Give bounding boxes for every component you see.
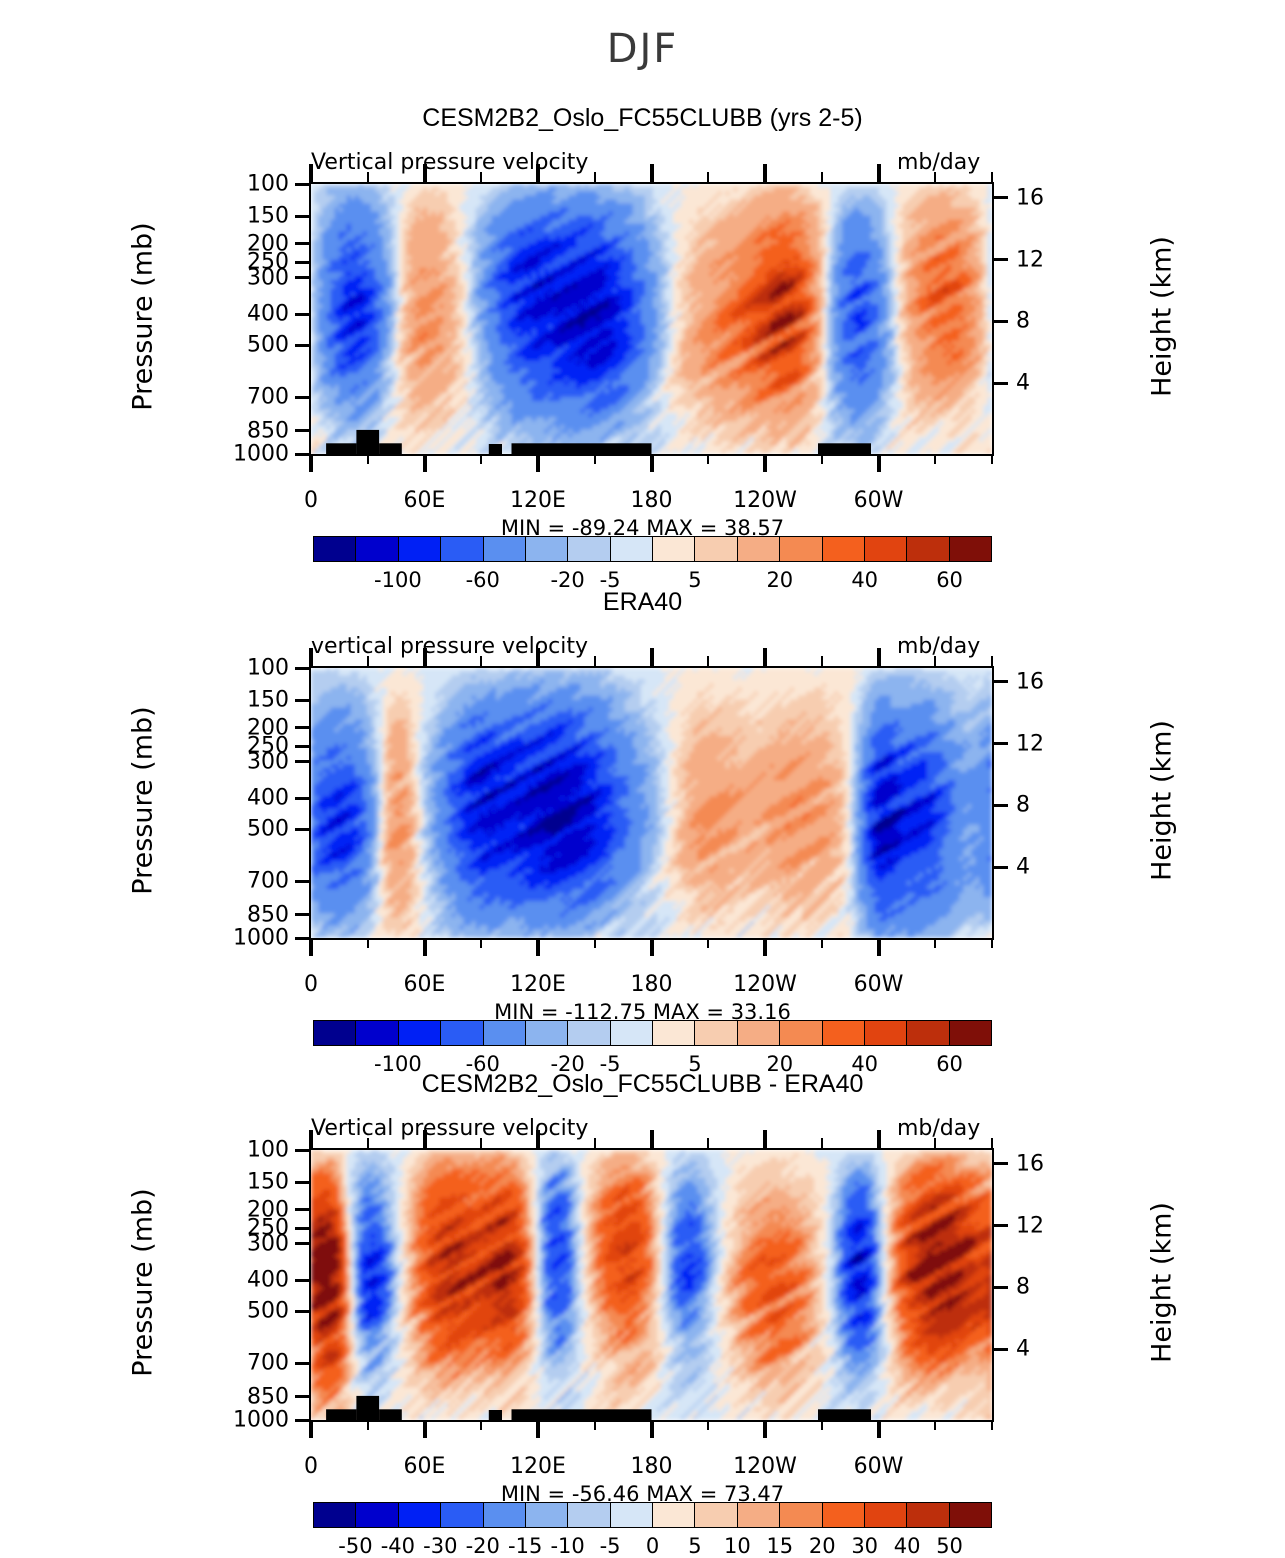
pressure-tick-label: 150: [183, 204, 289, 229]
pressure-tick-label: 150: [183, 1170, 289, 1195]
lon-tick-label: 60E: [404, 1454, 446, 1479]
lon-major-tick: [423, 454, 427, 472]
colorbar-segment: [441, 1021, 483, 1045]
lon-minor-tick: [991, 1420, 993, 1430]
colorbar-segment: [399, 1503, 441, 1527]
pressure-tick: [295, 242, 311, 245]
height-tick-label: 4: [1016, 1337, 1030, 1362]
lon-major-tick-top: [423, 648, 427, 666]
lon-major-tick: [650, 1420, 654, 1438]
lon-major-tick-top: [423, 1130, 427, 1148]
lon-major-tick-top: [536, 1130, 540, 1148]
lon-tick-label: 0: [304, 1454, 318, 1479]
lon-minor-tick-top: [707, 172, 709, 182]
pressure-axis-title: Pressure (mb): [128, 651, 159, 951]
lon-tick-label: 120E: [510, 972, 566, 997]
colorbar-segment: [907, 1021, 949, 1045]
colorbar-segment: [907, 537, 949, 561]
pressure-tick: [295, 1149, 311, 1152]
colorbar-tick-label: 50: [936, 1534, 963, 1558]
lon-major-tick: [309, 938, 313, 956]
colorbar-segment: [738, 1021, 780, 1045]
panel-obs-field-label: vertical pressure velocity: [311, 634, 588, 659]
pressure-tick: [295, 913, 311, 916]
pressure-tick: [295, 1279, 311, 1282]
pressure-tick-label: 100: [183, 1138, 289, 1163]
colorbar-tick-label: 15: [766, 1534, 793, 1558]
pressure-tick: [295, 745, 311, 748]
panel-diff-plot-area: [309, 1148, 994, 1422]
colorbar-segment: [950, 537, 991, 561]
pressure-tick: [295, 880, 311, 883]
lon-major-tick: [763, 938, 767, 956]
colorbar-segment: [653, 1021, 695, 1045]
colorbar-segment: [865, 537, 907, 561]
colorbar-segment: [399, 537, 441, 561]
panel-obs-contour-field: [311, 668, 992, 938]
pressure-tick-label: 500: [183, 333, 289, 358]
pressure-tick-label: 400: [183, 786, 289, 811]
colorbar-segment: [484, 1021, 526, 1045]
panel-obs-plot-area: [309, 666, 994, 940]
lon-minor-tick-top: [367, 1138, 369, 1148]
colorbar-tick-label: -10: [550, 1534, 584, 1558]
lon-minor-tick-top: [707, 656, 709, 666]
pressure-tick-label: 400: [183, 302, 289, 327]
lon-minor-tick-top: [934, 1138, 936, 1148]
pressure-tick: [295, 183, 311, 186]
pressure-tick-label: 850: [183, 1384, 289, 1409]
pressure-tick: [295, 1208, 311, 1211]
lon-minor-tick-top: [480, 656, 482, 666]
pressure-tick-label: 100: [183, 172, 289, 197]
colorbar-tick-label: 30: [851, 1534, 878, 1558]
pressure-tick: [295, 344, 311, 347]
colorbar-tick-label: -5: [600, 1534, 621, 1558]
height-tick: [992, 1286, 1008, 1289]
lon-major-tick-top: [763, 1130, 767, 1148]
colorbar-segment: [356, 537, 398, 561]
colorbar-segment: [526, 1021, 568, 1045]
height-tick-label: 16: [1016, 1151, 1044, 1176]
lon-major-tick: [650, 938, 654, 956]
panel-diff-field-label: Vertical pressure velocity: [311, 1116, 588, 1141]
colorbar-tick-label: 10: [724, 1534, 751, 1558]
lon-minor-tick: [594, 938, 596, 948]
colorbar-segment: [441, 1503, 483, 1527]
height-tick-label: 4: [1016, 855, 1030, 880]
pressure-tick: [295, 1242, 311, 1245]
lon-major-tick-top: [536, 164, 540, 182]
lon-major-tick: [877, 938, 881, 956]
colorbar-segment: [568, 537, 610, 561]
colorbar-tick-label: 5: [688, 1534, 701, 1558]
panel-diff-title: CESM2B2_Oslo_FC55CLUBB - ERA40: [0, 1070, 1285, 1099]
lon-major-tick-top: [877, 648, 881, 666]
lon-tick-label: 60E: [404, 488, 446, 513]
pressure-tick-label: 300: [183, 265, 289, 290]
pressure-tick-label: 300: [183, 1231, 289, 1256]
pressure-tick: [295, 760, 311, 763]
pressure-tick: [295, 1310, 311, 1313]
pressure-tick-label: 700: [183, 869, 289, 894]
lon-tick-label: 180: [631, 488, 673, 513]
lon-minor-tick-top: [594, 656, 596, 666]
pressure-tick: [295, 699, 311, 702]
pressure-tick-label: 1000: [183, 1408, 289, 1433]
pressure-tick: [295, 313, 311, 316]
colorbar-segment: [611, 1503, 653, 1527]
colorbar-tick-label: 0: [646, 1534, 659, 1558]
pressure-tick-label: 500: [183, 817, 289, 842]
lon-minor-tick: [480, 454, 482, 464]
colorbar-tick-label: 40: [894, 1534, 921, 1558]
colorbar-segment: [484, 537, 526, 561]
colorbar-segment: [823, 537, 865, 561]
lon-tick-label: 0: [304, 972, 318, 997]
lon-major-tick: [309, 1420, 313, 1438]
lon-minor-tick-top: [934, 172, 936, 182]
pressure-tick-label: 850: [183, 902, 289, 927]
colorbar-segment: [950, 1021, 991, 1045]
lon-tick-label: 60E: [404, 972, 446, 997]
pressure-tick-label: 150: [183, 688, 289, 713]
lon-minor-tick: [821, 1420, 823, 1430]
omega-bar-0[interactable]: [313, 536, 992, 562]
colorbar-segment: [611, 1021, 653, 1045]
lon-tick-label: 60W: [854, 1454, 904, 1479]
colorbar-segment: [568, 1503, 610, 1527]
lon-major-tick: [423, 938, 427, 956]
panel-diff-topography-mask: [311, 1150, 992, 1420]
colorbar-segment: [314, 1021, 356, 1045]
pressure-tick: [295, 1362, 311, 1365]
lon-major-tick-top: [650, 648, 654, 666]
colorbar-segment: [441, 537, 483, 561]
height-tick: [992, 258, 1008, 261]
lon-minor-tick: [594, 454, 596, 464]
lon-major-tick-top: [650, 164, 654, 182]
lon-major-tick-top: [536, 648, 540, 666]
season-title: DJF: [0, 26, 1285, 72]
lon-major-tick-top: [309, 648, 313, 666]
lon-minor-tick: [934, 938, 936, 948]
colorbar-segment: [738, 537, 780, 561]
lon-minor-tick: [367, 454, 369, 464]
height-tick: [992, 1348, 1008, 1351]
colorbar-segment: [399, 1021, 441, 1045]
pressure-tick: [295, 667, 311, 670]
lon-tick-label: 0: [304, 488, 318, 513]
lon-major-tick: [536, 1420, 540, 1438]
lon-minor-tick: [821, 454, 823, 464]
height-tick: [992, 1224, 1008, 1227]
colorbar-tick-label: -40: [381, 1534, 415, 1558]
lon-minor-tick: [707, 454, 709, 464]
colorbar-tick-label: -50: [338, 1534, 372, 1558]
colorbar-segment: [568, 1021, 610, 1045]
colorbar-segment: [695, 1503, 737, 1527]
lon-minor-tick-top: [707, 1138, 709, 1148]
lon-minor-tick-top: [991, 1138, 993, 1148]
colorbar-segment: [823, 1503, 865, 1527]
colorbar-segment: [823, 1021, 865, 1045]
lon-minor-tick: [594, 1420, 596, 1430]
pressure-tick-label: 500: [183, 1299, 289, 1324]
pressure-tick: [295, 1181, 311, 1184]
lon-major-tick-top: [763, 164, 767, 182]
pressure-tick: [295, 1395, 311, 1398]
lon-tick-label: 120W: [733, 488, 797, 513]
colorbar-segment: [314, 537, 356, 561]
lon-major-tick-top: [877, 1130, 881, 1148]
lon-major-tick-top: [309, 164, 313, 182]
height-axis-title: Height (km): [1147, 651, 1178, 951]
lon-tick-label: 180: [631, 972, 673, 997]
height-tick: [992, 866, 1008, 869]
lon-minor-tick: [480, 1420, 482, 1430]
pressure-axis-title: Pressure (mb): [128, 1133, 159, 1433]
height-tick: [992, 804, 1008, 807]
lon-major-tick: [309, 454, 313, 472]
colorbar-segment: [484, 1503, 526, 1527]
diff-bar-2[interactable]: [313, 1502, 992, 1528]
lon-major-tick-top: [650, 1130, 654, 1148]
lon-minor-tick-top: [367, 656, 369, 666]
pressure-tick: [295, 797, 311, 800]
lon-major-tick: [650, 454, 654, 472]
lon-major-tick: [877, 454, 881, 472]
lon-minor-tick-top: [991, 656, 993, 666]
colorbar-tick-label: 20: [809, 1534, 836, 1558]
omega-bar-1[interactable]: [313, 1020, 992, 1046]
lon-major-tick: [877, 1420, 881, 1438]
colorbar-segment: [611, 537, 653, 561]
colorbar-segment: [738, 1503, 780, 1527]
height-tick-label: 8: [1016, 793, 1030, 818]
colorbar-segment: [865, 1021, 907, 1045]
pressure-tick: [295, 261, 311, 264]
lon-major-tick: [536, 454, 540, 472]
pressure-tick-label: 700: [183, 1351, 289, 1376]
lon-minor-tick: [934, 454, 936, 464]
colorbar-segment: [780, 537, 822, 561]
lon-minor-tick: [991, 938, 993, 948]
lon-minor-tick: [934, 1420, 936, 1430]
panel-model-units-label: mb/day: [897, 150, 980, 175]
lon-minor-tick-top: [594, 1138, 596, 1148]
lon-tick-label: 120W: [733, 972, 797, 997]
colorbar-segment: [695, 537, 737, 561]
height-tick-label: 16: [1016, 669, 1044, 694]
lon-major-tick-top: [763, 648, 767, 666]
lon-minor-tick-top: [821, 172, 823, 182]
lon-tick-label: 60W: [854, 488, 904, 513]
colorbar-segment: [865, 1503, 907, 1527]
pressure-tick: [295, 396, 311, 399]
lon-tick-label: 180: [631, 1454, 673, 1479]
panel-diff-units-label: mb/day: [897, 1116, 980, 1141]
height-tick-label: 8: [1016, 309, 1030, 334]
height-tick-label: 12: [1016, 731, 1044, 756]
pressure-tick: [295, 429, 311, 432]
colorbar-segment: [653, 1503, 695, 1527]
colorbar-segment: [780, 1021, 822, 1045]
panel-obs-units-label: mb/day: [897, 634, 980, 659]
lon-minor-tick-top: [480, 1138, 482, 1148]
lon-minor-tick-top: [991, 172, 993, 182]
colorbar-segment: [907, 1503, 949, 1527]
lon-minor-tick-top: [934, 656, 936, 666]
height-tick-label: 8: [1016, 1275, 1030, 1300]
panel-obs-title: ERA40: [0, 588, 1285, 617]
lon-minor-tick-top: [367, 172, 369, 182]
lon-major-tick-top: [877, 164, 881, 182]
lon-minor-tick: [707, 938, 709, 948]
height-tick: [992, 680, 1008, 683]
colorbar-segment: [780, 1503, 822, 1527]
height-tick-label: 4: [1016, 371, 1030, 396]
colorbar-segment: [950, 1503, 991, 1527]
pressure-tick: [295, 828, 311, 831]
colorbar-segment: [653, 537, 695, 561]
colorbar-segment: [526, 537, 568, 561]
height-tick: [992, 1162, 1008, 1165]
lon-minor-tick: [367, 938, 369, 948]
pressure-tick-label: 400: [183, 1268, 289, 1293]
panel-model-field-label: Vertical pressure velocity: [311, 150, 588, 175]
colorbar-tick-label: -30: [423, 1534, 457, 1558]
pressure-axis-title: Pressure (mb): [128, 167, 159, 467]
lon-tick-label: 60W: [854, 972, 904, 997]
lon-major-tick: [423, 1420, 427, 1438]
lon-minor-tick-top: [594, 172, 596, 182]
colorbar-segment: [526, 1503, 568, 1527]
height-tick-label: 12: [1016, 247, 1044, 272]
panel-model-plot-area: [309, 182, 994, 456]
pressure-tick: [295, 726, 311, 729]
lon-major-tick: [763, 1420, 767, 1438]
lon-minor-tick: [480, 938, 482, 948]
pressure-tick-label: 300: [183, 749, 289, 774]
pressure-tick-label: 1000: [183, 926, 289, 951]
colorbar-tick-label: -20: [466, 1534, 500, 1558]
panel-model-title: CESM2B2_Oslo_FC55CLUBB (yrs 2-5): [0, 104, 1285, 133]
lon-minor-tick-top: [480, 172, 482, 182]
pressure-tick-label: 100: [183, 656, 289, 681]
pressure-tick-label: 850: [183, 418, 289, 443]
lon-minor-tick-top: [821, 1138, 823, 1148]
lon-tick-label: 120E: [510, 488, 566, 513]
lon-minor-tick: [367, 1420, 369, 1430]
height-tick: [992, 196, 1008, 199]
lon-major-tick-top: [309, 1130, 313, 1148]
pressure-tick: [295, 1227, 311, 1230]
pressure-tick: [295, 215, 311, 218]
height-tick: [992, 382, 1008, 385]
lon-minor-tick: [821, 938, 823, 948]
lon-major-tick: [763, 454, 767, 472]
height-axis-title: Height (km): [1147, 1133, 1178, 1433]
height-tick-label: 12: [1016, 1213, 1044, 1238]
colorbar-segment: [695, 1021, 737, 1045]
colorbar-tick-label: -15: [508, 1534, 542, 1558]
colorbar-segment: [314, 1503, 356, 1527]
lon-major-tick: [536, 938, 540, 956]
height-tick: [992, 742, 1008, 745]
pressure-tick-label: 700: [183, 385, 289, 410]
lon-major-tick-top: [423, 164, 427, 182]
lon-minor-tick-top: [821, 656, 823, 666]
colorbar-segment: [356, 1021, 398, 1045]
lon-tick-label: 120W: [733, 1454, 797, 1479]
colorbar-segment: [356, 1503, 398, 1527]
height-axis-title: Height (km): [1147, 167, 1178, 467]
lon-minor-tick: [707, 1420, 709, 1430]
height-tick: [992, 320, 1008, 323]
height-tick-label: 16: [1016, 185, 1044, 210]
lon-tick-label: 120E: [510, 1454, 566, 1479]
panel-model-topography-mask: [311, 184, 992, 454]
pressure-tick-label: 1000: [183, 442, 289, 467]
pressure-tick: [295, 276, 311, 279]
lon-minor-tick: [991, 454, 993, 464]
